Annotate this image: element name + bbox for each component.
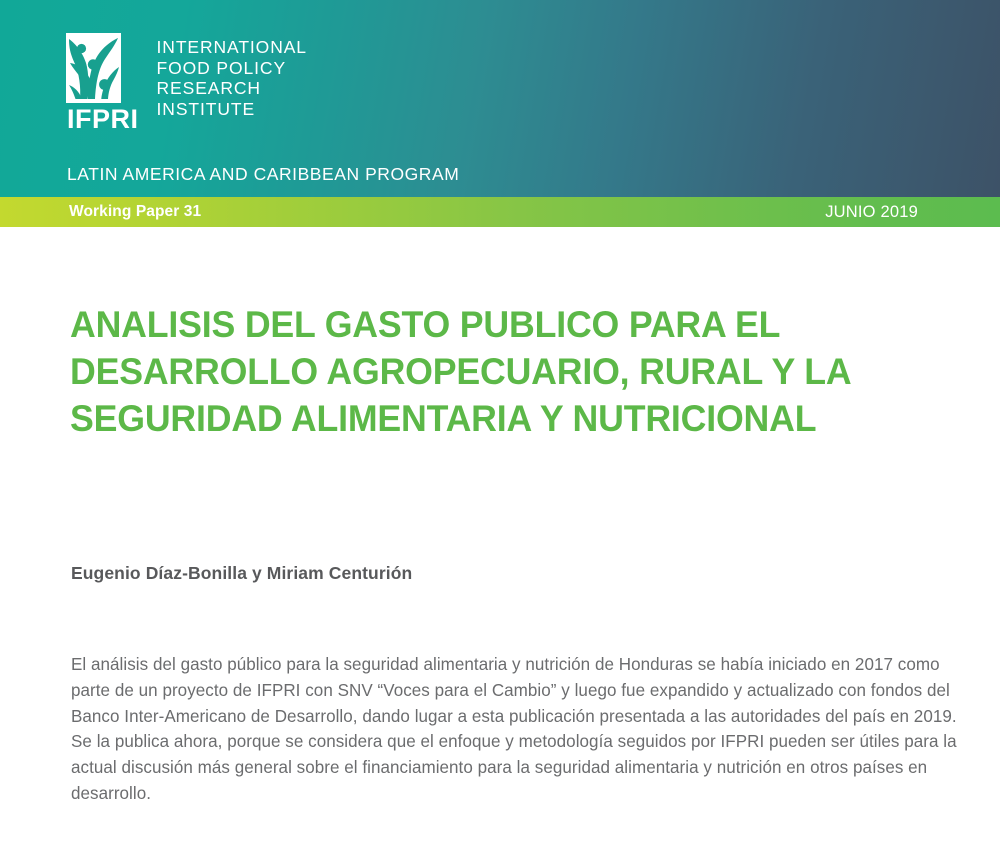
program-name: LATIN AMERICA AND CARIBBEAN PROGRAM bbox=[67, 164, 459, 185]
ifpri-logo-line-3: RESEARCH bbox=[157, 78, 307, 99]
ifpri-logo-line-2: FOOD POLICY bbox=[157, 58, 307, 79]
ifpri-logo-lines: INTERNATIONAL FOOD POLICY RESEARCH INSTI… bbox=[157, 37, 307, 119]
authors-line: Eugenio Díaz-Bonilla y Miriam Centurión bbox=[71, 563, 412, 584]
ifpri-logo-mark bbox=[66, 33, 121, 103]
header-band: IFPRI INTERNATIONAL FOOD POLICY RESEARCH… bbox=[0, 0, 1000, 197]
ifpri-logo-line-4: INSTITUTE bbox=[157, 99, 307, 120]
abstract-paragraph: El análisis del gasto público para la se… bbox=[71, 652, 969, 807]
page-title: ANALISIS DEL GASTO PUBLICO PARA EL DESAR… bbox=[70, 301, 900, 442]
ifpri-wordmark: IFPRI bbox=[67, 106, 139, 133]
ifpri-logo-left: IFPRI bbox=[66, 33, 139, 133]
working-paper-number: Working Paper 31 bbox=[69, 197, 201, 227]
ifpri-logo: IFPRI INTERNATIONAL FOOD POLICY RESEARCH… bbox=[66, 33, 307, 133]
publication-date: JUNIO 2019 bbox=[825, 197, 918, 227]
series-bar: Working Paper 31 JUNIO 2019 bbox=[0, 197, 1000, 227]
ifpri-logo-line-1: INTERNATIONAL bbox=[157, 37, 307, 58]
